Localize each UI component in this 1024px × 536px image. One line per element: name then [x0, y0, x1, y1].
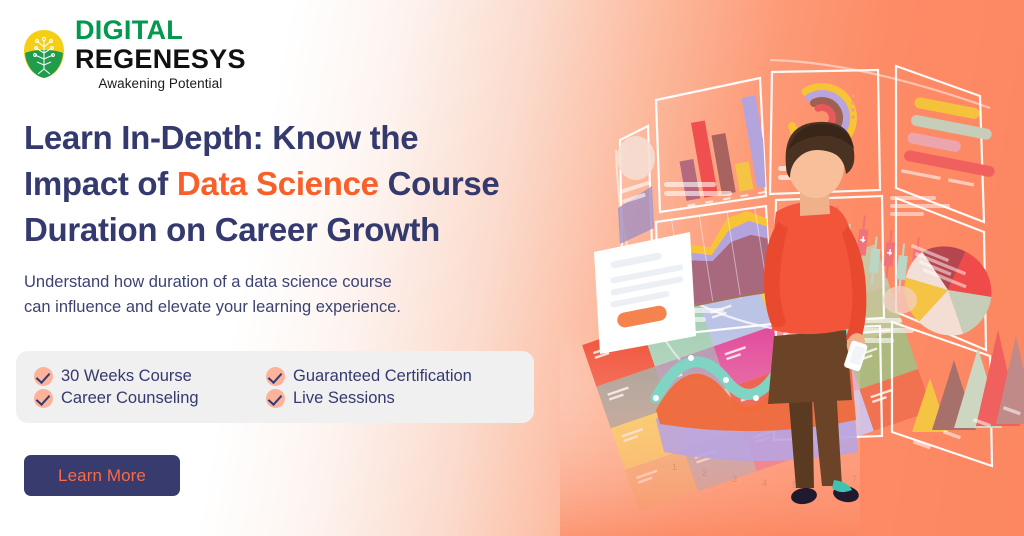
page-title: Learn In-Depth: Know the Impact of Data … [24, 115, 604, 253]
svg-text:3: 3 [732, 474, 737, 484]
list-item: Career Counseling [34, 389, 266, 408]
headline-line-1: Learn In-Depth: Know the [24, 119, 418, 156]
bar-chart-panel [664, 95, 772, 206]
list-item: Live Sessions [266, 389, 534, 408]
page-subtitle: Understand how duration of a data scienc… [24, 270, 564, 320]
horizontal-bar-panel [890, 96, 1006, 216]
feature-label: 30 Weeks Course [61, 367, 192, 386]
headline-accent: Data Science [177, 165, 379, 202]
check-icon [266, 367, 285, 386]
headline-line-3: Duration on Career Growth [24, 211, 440, 248]
list-item: 30 Weeks Course [34, 367, 266, 386]
feature-list: 30 Weeks Course Guaranteed Certification… [16, 351, 534, 423]
feature-label: Live Sessions [293, 389, 395, 408]
logo-line-2: REGENESYS [75, 46, 246, 73]
promo-banner: 12 34 56 7 [0, 0, 1024, 536]
svg-text:4: 4 [762, 478, 767, 488]
headline-line-2-post: Course [379, 165, 500, 202]
check-icon [266, 389, 285, 408]
logo-line-1: DIGITAL [75, 17, 246, 44]
logo-tagline: Awakening Potential [75, 77, 246, 91]
check-icon [34, 367, 53, 386]
feature-label: Guaranteed Certification [293, 367, 472, 386]
banner-content: DIGITAL REGENESYS Awakening Potential Le… [0, 0, 620, 536]
subtitle-line-2: can influence and elevate your learning … [24, 298, 401, 316]
check-icon [34, 389, 53, 408]
tree-badge-icon [22, 29, 66, 79]
svg-text:1: 1 [672, 462, 677, 472]
brand-logo[interactable]: DIGITAL REGENESYS Awakening Potential [22, 17, 246, 91]
learn-more-button[interactable]: Learn More [24, 455, 180, 496]
data-analyst-dashboard-illustration: 12 34 56 7 [560, 0, 1024, 536]
headline-line-2-pre: Impact of [24, 165, 177, 202]
svg-text:2: 2 [702, 468, 707, 478]
list-item: Guaranteed Certification [266, 367, 534, 386]
subtitle-line-1: Understand how duration of a data scienc… [24, 273, 392, 291]
profile-panel [617, 136, 655, 244]
feature-label: Career Counseling [61, 389, 199, 408]
svg-text:7: 7 [852, 474, 857, 484]
